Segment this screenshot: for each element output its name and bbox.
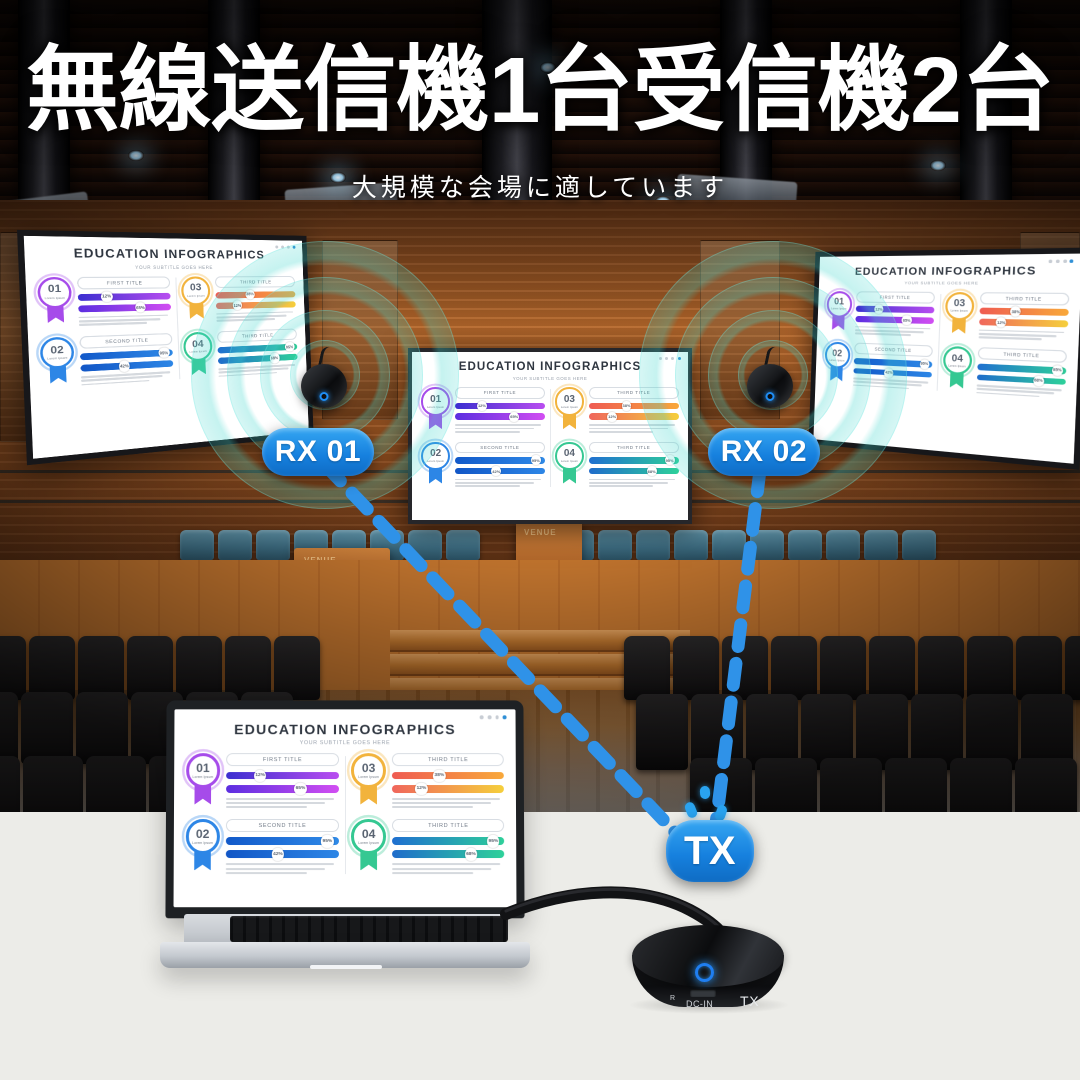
progress-bar bbox=[78, 303, 171, 312]
progress-bar bbox=[589, 413, 679, 420]
medal-caption: Lorem Ipsum bbox=[950, 310, 967, 314]
item-body-text bbox=[81, 371, 174, 386]
progress-bar-row: 42% bbox=[455, 468, 545, 475]
progress-bar-row: 38% bbox=[589, 403, 679, 410]
infographic-item: 04Lorem IpsumTHIRD TITLE95%68% bbox=[942, 346, 1068, 401]
infographic-item: 02Lorem IpsumSECOND TITLE95%42% bbox=[185, 819, 338, 876]
item-title: FIRST TITLE bbox=[227, 753, 339, 766]
medal-caption: Lorem Ipsum bbox=[187, 294, 205, 297]
medal-number: 03 bbox=[190, 283, 202, 293]
item-body-text bbox=[589, 424, 679, 432]
medal-number: 04 bbox=[192, 339, 204, 350]
medal-circle: 04Lorem Ipsum bbox=[555, 442, 583, 470]
progress-value: 42% bbox=[119, 360, 130, 371]
progress-bar bbox=[589, 468, 679, 475]
infographic-item: 01Lorem IpsumFIRST TITLE12%65% bbox=[37, 276, 172, 329]
audience-seat-row-right bbox=[624, 636, 1080, 700]
laptop-base bbox=[160, 914, 530, 970]
medal-number: 02 bbox=[832, 348, 842, 358]
medal-number: 04 bbox=[362, 828, 376, 840]
progress-value: 38% bbox=[245, 289, 255, 299]
medal-circle: 01Lorem Ipsum bbox=[186, 753, 221, 787]
medal-caption: Lorem Ipsum bbox=[45, 296, 66, 300]
item-title: THIRD TITLE bbox=[215, 276, 295, 288]
medal-circle: 02Lorem Ipsum bbox=[421, 442, 449, 470]
medal-number: 01 bbox=[48, 284, 62, 295]
progress-value: 95% bbox=[158, 347, 169, 358]
medal-caption: Lorem Ipsum bbox=[193, 775, 214, 779]
infographic-item-content: SECOND TITLE95%42% bbox=[79, 333, 173, 388]
infographic-subtitle: YOUR SUBTITLE GOES HERE bbox=[36, 264, 294, 270]
badge-tx-label: TX bbox=[684, 829, 736, 874]
progress-value: 12% bbox=[254, 770, 266, 782]
medal-number: 03 bbox=[362, 762, 376, 774]
item-title: SECOND TITLE bbox=[455, 442, 545, 453]
medal-badge: 03Lorem Ipsum bbox=[944, 292, 975, 340]
item-body-text bbox=[589, 479, 679, 487]
infographic-item: 01Lorem IpsumFIRST TITLE12%65% bbox=[825, 291, 935, 339]
progress-value: 12% bbox=[607, 412, 617, 422]
item-title: SECOND TITLE bbox=[79, 333, 172, 349]
progress-bar bbox=[227, 772, 339, 780]
laptop-keyboard[interactable] bbox=[230, 916, 508, 942]
medal-caption: Lorem Ipsum bbox=[189, 350, 206, 354]
infographic-grid: 01Lorem IpsumFIRST TITLE12%65%03Lorem Ip… bbox=[824, 291, 1070, 401]
infographic-item-content: SECOND TITLE95%42% bbox=[853, 343, 933, 393]
infographic-left: EDUCATION INFOGRAPHICSYOUR SUBTITLE GOES… bbox=[24, 236, 309, 459]
progress-value: 95% bbox=[919, 359, 929, 369]
medal-ribbon bbox=[189, 303, 204, 319]
progress-bar-row: 42% bbox=[81, 360, 174, 372]
medal-badge: 02Lorem Ipsum bbox=[185, 819, 220, 876]
medal-number: 02 bbox=[430, 449, 441, 459]
progress-bar bbox=[227, 785, 339, 793]
item-title: THIRD TITLE bbox=[589, 387, 679, 398]
medal-ribbon bbox=[194, 851, 211, 870]
item-body-text bbox=[855, 326, 934, 336]
infographic-item-content: THIRD TITLE95%68% bbox=[589, 442, 679, 489]
medal-ribbon bbox=[429, 468, 443, 484]
badge-tx[interactable]: TX bbox=[666, 820, 754, 882]
item-body-text bbox=[455, 424, 545, 432]
medal-caption: Lorem Ipsum bbox=[192, 841, 213, 845]
medal-caption: Lorem Ipsum bbox=[829, 358, 844, 362]
medal-number: 01 bbox=[196, 762, 210, 774]
infographic-item: 01Lorem IpsumFIRST TITLE12%65% bbox=[421, 387, 544, 434]
medal-circle: 03Lorem Ipsum bbox=[181, 276, 211, 305]
medal-caption: Lorem Ipsum bbox=[561, 406, 578, 409]
progress-value: 65% bbox=[294, 783, 306, 795]
progress-value: 38% bbox=[622, 401, 632, 411]
progress-value: 65% bbox=[135, 302, 146, 313]
medal-number: 03 bbox=[954, 299, 966, 309]
progress-bar-row: 12% bbox=[216, 301, 296, 309]
medal-caption: Lorem Ipsum bbox=[358, 841, 379, 845]
progress-bar bbox=[979, 319, 1069, 328]
infographic-item-content: THIRD TITLE95%68% bbox=[392, 819, 504, 876]
infographic-item: 04Lorem IpsumTHIRD TITLE95%68% bbox=[351, 819, 504, 876]
infographic-title: EDUCATION INFOGRAPHICS bbox=[36, 247, 294, 262]
medal-circle: 01Lorem Ipsum bbox=[421, 387, 449, 415]
projection-screen-right: EDUCATION INFOGRAPHICSYOUR SUBTITLE GOES… bbox=[809, 248, 1080, 470]
infographic-item-content: SECOND TITLE95%42% bbox=[226, 819, 338, 876]
medal-number: 03 bbox=[564, 395, 575, 405]
medal-badge: 03Lorem Ipsum bbox=[181, 276, 212, 325]
item-title: THIRD TITLE bbox=[392, 819, 504, 832]
progress-value: 12% bbox=[996, 317, 1007, 327]
item-body-text bbox=[79, 314, 172, 326]
progress-bar-row: 38% bbox=[979, 308, 1069, 316]
transmitter-led-indicator bbox=[695, 963, 714, 982]
progress-bar bbox=[455, 413, 545, 420]
item-title: THIRD TITLE bbox=[977, 347, 1067, 363]
medal-ribbon bbox=[191, 358, 205, 375]
medal-caption: Lorem Ipsum bbox=[831, 308, 846, 311]
medal-badge: 03Lorem Ipsum bbox=[351, 753, 386, 810]
tx-antenna-top bbox=[700, 786, 711, 800]
infographic-item-content: FIRST TITLE12%65% bbox=[855, 291, 935, 338]
item-body-text bbox=[853, 378, 931, 391]
progress-value: 42% bbox=[884, 368, 894, 378]
infographic-item: 03Lorem IpsumTHIRD TITLE38%12% bbox=[944, 292, 1070, 343]
item-title: THIRD TITLE bbox=[217, 328, 297, 342]
progress-bar-row: 12% bbox=[392, 785, 504, 793]
dongle-led-indicator bbox=[320, 392, 329, 401]
medal-badge: 04Lorem Ipsum bbox=[942, 346, 972, 395]
progress-value: 95% bbox=[665, 455, 675, 465]
progress-value: 68% bbox=[1033, 375, 1044, 386]
transmitter-dcin-label: DC-IN bbox=[686, 999, 713, 1009]
progress-bar-row: 12% bbox=[455, 403, 545, 410]
dongle-body bbox=[747, 364, 793, 408]
audience-seat-row-right bbox=[690, 758, 1077, 812]
progress-bar-row: 42% bbox=[226, 850, 338, 858]
infographic-item: 01Lorem IpsumFIRST TITLE12%65% bbox=[186, 753, 339, 810]
medal-circle: 04Lorem Ipsum bbox=[183, 331, 213, 361]
progress-value: 38% bbox=[1010, 307, 1021, 317]
transmitter-tx-label: TX bbox=[740, 993, 759, 1009]
item-body-text bbox=[226, 798, 338, 808]
projection-screen-center: EDUCATION INFOGRAPHICSYOUR SUBTITLE GOES… bbox=[408, 348, 692, 524]
infographic-title: EDUCATION INFOGRAPHICS bbox=[186, 721, 504, 737]
progress-bar-row: 12% bbox=[856, 306, 935, 314]
progress-bar bbox=[455, 403, 545, 410]
product-marketing-image: VENUE VENUE bbox=[0, 0, 1080, 1080]
progress-bar-row: 95% bbox=[226, 837, 338, 845]
infographic-grid: 01Lorem IpsumFIRST TITLE12%65%03Lorem Ip… bbox=[185, 753, 505, 876]
medal-ribbon bbox=[194, 785, 211, 804]
medal-ribbon bbox=[830, 366, 843, 381]
medal-ribbon bbox=[951, 318, 965, 334]
progress-bar-row: 12% bbox=[227, 772, 339, 780]
progress-value: 95% bbox=[321, 835, 333, 847]
infographic-item-content: SECOND TITLE95%42% bbox=[455, 442, 545, 489]
medal-badge: 02Lorem Ipsum bbox=[421, 442, 449, 489]
infographic-item: 02Lorem IpsumSECOND TITLE95%42% bbox=[40, 333, 174, 391]
medal-caption: Lorem Ipsum bbox=[358, 775, 379, 779]
infographic-item: 04Lorem IpsumTHIRD TITLE95%68% bbox=[555, 442, 678, 489]
infographic-item-content: THIRD TITLE95%68% bbox=[217, 328, 298, 379]
badge-rx-01-label: RX 01 bbox=[275, 435, 361, 469]
window-dots bbox=[659, 357, 681, 360]
medal-caption: Lorem Ipsum bbox=[948, 364, 965, 368]
progress-value: 12% bbox=[232, 300, 242, 310]
badge-rx-02[interactable]: RX 02 bbox=[708, 428, 820, 476]
medal-caption: Lorem Ipsum bbox=[47, 356, 67, 360]
progress-value: 65% bbox=[902, 315, 912, 325]
progress-bar-row: 68% bbox=[218, 354, 298, 365]
infographic-item-content: THIRD TITLE95%68% bbox=[976, 347, 1068, 400]
infographic-item-content: FIRST TITLE12%65% bbox=[226, 753, 338, 810]
progress-bar bbox=[216, 301, 296, 309]
progress-bar bbox=[392, 772, 504, 780]
badge-rx-02-label: RX 02 bbox=[721, 435, 807, 469]
progress-bar-row: 38% bbox=[392, 772, 504, 780]
infographic-right: EDUCATION INFOGRAPHICSYOUR SUBTITLE GOES… bbox=[813, 254, 1080, 464]
item-title: FIRST TITLE bbox=[455, 387, 545, 398]
medal-circle: 01Lorem Ipsum bbox=[37, 276, 72, 308]
medal-ribbon bbox=[50, 365, 67, 383]
medal-circle: 03Lorem Ipsum bbox=[555, 387, 583, 415]
medal-number: 02 bbox=[196, 828, 210, 840]
progress-value: 12% bbox=[101, 291, 113, 302]
progress-bar-row: 95% bbox=[589, 457, 679, 464]
infographic-item: 02Lorem IpsumSECOND TITLE95%42% bbox=[421, 442, 544, 489]
infographic-item-content: THIRD TITLE38%12% bbox=[589, 387, 679, 434]
medal-ribbon bbox=[360, 851, 377, 870]
infographic-center: EDUCATION INFOGRAPHICSYOUR SUBTITLE GOES… bbox=[412, 352, 688, 520]
progress-value: 95% bbox=[531, 455, 541, 465]
progress-bar bbox=[976, 374, 1066, 385]
item-body-text bbox=[455, 479, 545, 487]
progress-value: 95% bbox=[487, 835, 499, 847]
projection-screen-left: EDUCATION INFOGRAPHICSYOUR SUBTITLE GOES… bbox=[17, 230, 314, 465]
progress-bar-row: 68% bbox=[589, 468, 679, 475]
infographic-item: 04Lorem IpsumTHIRD TITLE95%68% bbox=[183, 328, 298, 381]
medal-circle: 02Lorem Ipsum bbox=[40, 336, 75, 369]
medal-circle: 03Lorem Ipsum bbox=[351, 753, 386, 787]
progress-bar-row: 12% bbox=[78, 292, 171, 300]
progress-bar-row: 95% bbox=[977, 363, 1067, 374]
dongle-led-indicator bbox=[766, 392, 775, 401]
medal-ribbon bbox=[563, 414, 577, 430]
item-body-text bbox=[976, 385, 1066, 399]
progress-value: 95% bbox=[1052, 365, 1064, 376]
progress-value: 12% bbox=[874, 305, 884, 315]
medal-ribbon bbox=[563, 468, 577, 484]
medal-circle: 02Lorem Ipsum bbox=[185, 819, 220, 854]
item-title: SECOND TITLE bbox=[855, 343, 934, 357]
progress-bar-row: 95% bbox=[854, 358, 932, 368]
laptop: EDUCATION INFOGRAPHICSYOUR SUBTITLE GOES… bbox=[160, 700, 530, 1010]
audience-seat-row-left bbox=[0, 636, 320, 700]
item-body-text bbox=[978, 329, 1068, 340]
infographic-title: EDUCATION INFOGRAPHICS bbox=[827, 264, 1071, 278]
progress-bar-row: 42% bbox=[854, 368, 932, 378]
medal-caption: Lorem Ipsum bbox=[427, 460, 444, 463]
medal-badge: 04Lorem Ipsum bbox=[351, 819, 386, 876]
item-body-text bbox=[216, 311, 296, 322]
medal-ribbon bbox=[429, 414, 443, 430]
laptop-screen[interactable]: EDUCATION INFOGRAPHICSYOUR SUBTITLE GOES… bbox=[174, 709, 517, 907]
medal-number: 01 bbox=[834, 297, 844, 306]
progress-bar bbox=[78, 292, 171, 300]
progress-bar-row: 65% bbox=[455, 413, 545, 420]
progress-bar bbox=[392, 850, 504, 858]
page-title: 無線送信機1台受信機2台 bbox=[0, 44, 1080, 137]
item-title: THIRD TITLE bbox=[392, 753, 504, 766]
medal-badge: 03Lorem Ipsum bbox=[555, 387, 583, 434]
infographic-subtitle: YOUR SUBTITLE GOES HERE bbox=[186, 740, 504, 746]
laptop-lid: EDUCATION INFOGRAPHICSYOUR SUBTITLE GOES… bbox=[165, 700, 524, 918]
medal-number: 04 bbox=[564, 449, 575, 459]
progress-value: 42% bbox=[491, 466, 501, 476]
infographic-grid: 01Lorem IpsumFIRST TITLE12%65%03Lorem Ip… bbox=[421, 387, 678, 488]
infographic-item: 03Lorem IpsumTHIRD TITLE38%12% bbox=[351, 753, 504, 810]
item-title: FIRST TITLE bbox=[856, 291, 935, 303]
medal-ribbon bbox=[949, 372, 963, 388]
progress-value: 42% bbox=[272, 848, 284, 860]
infographic-item: 03Lorem IpsumTHIRD TITLE38%12% bbox=[181, 276, 297, 325]
item-body-text bbox=[226, 864, 338, 874]
medal-caption: Lorem Ipsum bbox=[427, 406, 444, 409]
progress-bar-row: 12% bbox=[979, 319, 1069, 328]
progress-value: 38% bbox=[433, 770, 445, 782]
item-body-text bbox=[392, 864, 504, 874]
infographic-grid: 01Lorem IpsumFIRST TITLE12%65%03Lorem Ip… bbox=[37, 276, 298, 391]
progress-value: 68% bbox=[465, 848, 477, 860]
medal-number: 04 bbox=[952, 353, 964, 363]
badge-rx-01[interactable]: RX 01 bbox=[262, 428, 374, 476]
receiver-dongle-rx1 bbox=[298, 348, 350, 408]
progress-bar-row: 38% bbox=[215, 291, 295, 299]
progress-value: 68% bbox=[270, 353, 280, 363]
ceiling-spotlight bbox=[128, 150, 144, 161]
progress-bar-row: 68% bbox=[392, 850, 504, 858]
progress-bar-row: 65% bbox=[227, 785, 339, 793]
infographic-subtitle: YOUR SUBTITLE GOES HERE bbox=[421, 376, 678, 381]
item-body-text bbox=[218, 364, 298, 377]
medal-ribbon bbox=[832, 315, 845, 330]
progress-bar-row: 95% bbox=[392, 837, 504, 845]
medal-badge: 01Lorem Ipsum bbox=[825, 291, 852, 336]
progress-bar bbox=[856, 316, 935, 324]
medal-circle: 03Lorem Ipsum bbox=[945, 292, 975, 321]
item-title: THIRD TITLE bbox=[979, 292, 1070, 305]
window-dots bbox=[1049, 259, 1074, 263]
item-body-text bbox=[392, 798, 504, 808]
item-title: THIRD TITLE bbox=[589, 442, 679, 453]
medal-circle: 01Lorem Ipsum bbox=[826, 291, 852, 318]
transmitter-device[interactable]: R DC-IN TX bbox=[632, 925, 784, 1015]
progress-value: 12% bbox=[415, 783, 427, 795]
infographic-item-content: THIRD TITLE38%12% bbox=[215, 276, 296, 324]
progress-bar bbox=[856, 306, 935, 314]
progress-bar-row: 12% bbox=[589, 413, 679, 420]
medal-circle: 04Lorem Ipsum bbox=[351, 819, 386, 854]
medal-badge: 04Lorem Ipsum bbox=[183, 331, 214, 381]
progress-bar-row: 95% bbox=[80, 349, 173, 360]
progress-bar bbox=[215, 291, 295, 299]
laptop-front-notch bbox=[310, 965, 382, 969]
infographic-item-content: FIRST TITLE12%65% bbox=[455, 387, 545, 434]
progress-value: 95% bbox=[285, 342, 294, 352]
item-title: FIRST TITLE bbox=[77, 276, 170, 289]
progress-bar bbox=[979, 308, 1069, 316]
infographic-laptop: EDUCATION INFOGRAPHICSYOUR SUBTITLE GOES… bbox=[174, 709, 517, 907]
infographic-item-content: THIRD TITLE38%12% bbox=[978, 292, 1070, 343]
page-subtitle: 大規模な会場に適しています bbox=[0, 168, 1080, 204]
window-dots bbox=[275, 245, 295, 248]
progress-bar bbox=[218, 354, 298, 365]
lectern-logo: VENUE bbox=[524, 528, 557, 537]
medal-badge: 01Lorem Ipsum bbox=[421, 387, 449, 434]
progress-value: 68% bbox=[647, 466, 657, 476]
progress-value: 12% bbox=[477, 401, 487, 411]
transmitter-dc-port bbox=[690, 989, 716, 997]
transmitter-reset-label: R bbox=[670, 995, 675, 1002]
progress-bar bbox=[392, 785, 504, 793]
medal-ribbon bbox=[360, 785, 377, 804]
medal-circle: 02Lorem Ipsum bbox=[824, 342, 850, 369]
item-title: SECOND TITLE bbox=[226, 819, 338, 832]
progress-bar-row: 65% bbox=[856, 316, 935, 324]
medal-number: 02 bbox=[50, 344, 64, 356]
medal-badge: 04Lorem Ipsum bbox=[555, 442, 583, 489]
medal-badge: 01Lorem Ipsum bbox=[186, 753, 221, 810]
infographic-item: 03Lorem IpsumTHIRD TITLE38%12% bbox=[555, 387, 678, 434]
medal-ribbon bbox=[47, 305, 64, 323]
dongle-body bbox=[301, 364, 347, 408]
progress-value: 65% bbox=[509, 412, 519, 422]
progress-bar-row: 68% bbox=[976, 374, 1066, 385]
medal-circle: 04Lorem Ipsum bbox=[942, 346, 972, 375]
medal-badge: 02Lorem Ipsum bbox=[824, 342, 851, 387]
receiver-dongle-rx2 bbox=[744, 348, 796, 408]
infographic-subtitle: YOUR SUBTITLE GOES HERE bbox=[827, 280, 1070, 286]
progress-bar bbox=[589, 403, 679, 410]
infographic-item: 02Lorem IpsumSECOND TITLE95%42% bbox=[824, 342, 934, 393]
medal-number: 01 bbox=[430, 395, 441, 405]
stage-seat-row bbox=[560, 530, 936, 560]
medal-badge: 02Lorem Ipsum bbox=[40, 336, 76, 390]
medal-caption: Lorem Ipsum bbox=[561, 460, 578, 463]
infographic-item-content: THIRD TITLE38%12% bbox=[392, 753, 504, 810]
infographic-title: EDUCATION INFOGRAPHICS bbox=[421, 361, 678, 373]
progress-bar-row: 65% bbox=[78, 303, 171, 312]
medal-badge: 01Lorem Ipsum bbox=[37, 276, 73, 329]
window-dots bbox=[480, 716, 507, 720]
progress-bar-row: 95% bbox=[455, 457, 545, 464]
progress-bar-row: 95% bbox=[218, 343, 298, 353]
infographic-item-content: FIRST TITLE12%65% bbox=[77, 276, 172, 328]
